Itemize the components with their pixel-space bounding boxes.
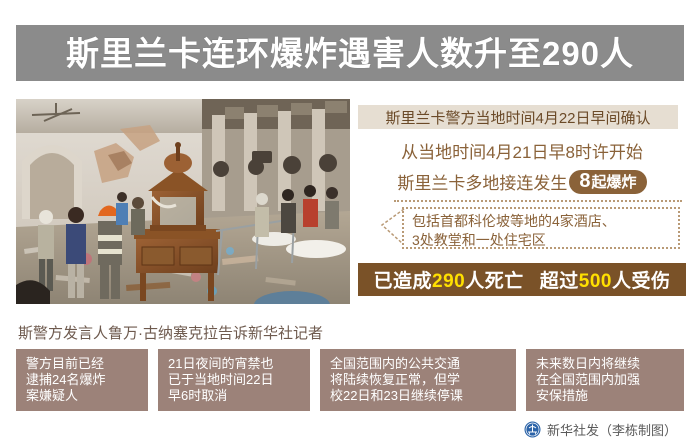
fact-box-security: 未来数日内将继续 在全国范围内加强 安保措施	[526, 349, 684, 411]
fact-line: 警方目前已经	[26, 356, 140, 372]
explosion-count-label: 斯里兰卡多地接连发生	[397, 169, 567, 194]
fact-line: 全国范围内的公共交通	[330, 356, 508, 372]
injured-count: 500	[579, 271, 612, 292]
fact-line: 已于当地时间22日	[168, 372, 302, 388]
fact-line: 案嫌疑人	[26, 388, 140, 404]
explosion-count-badge: 8 起爆炸	[569, 170, 646, 194]
fact-line: 21日夜间的宵禁也	[168, 356, 302, 372]
fact-line: 在全国范围内加强	[536, 372, 676, 388]
page-title-banner: 斯里兰卡连环爆炸遇害人数升至290人	[16, 25, 684, 81]
xinhua-logo-icon	[524, 421, 541, 438]
footer-credit: 新华社发（李栋制图）	[524, 420, 677, 439]
fact-line: 逮捕24名爆炸	[26, 372, 140, 388]
fact-box-transport: 全国范围内的公共交通 将陆续恢复正常，但学 校22日和23日继续停课	[320, 349, 516, 411]
deaths-prefix: 已造成	[374, 271, 433, 292]
news-photo	[16, 99, 350, 304]
explosion-count-row: 斯里兰卡多地接连发生 8 起爆炸	[358, 169, 686, 194]
infographic-root: 斯里兰卡连环爆炸遇害人数升至290人	[0, 0, 700, 445]
targets-callout: 包括首都科伦坡等地的4家酒店、 3处教堂和一处住宅区	[402, 207, 680, 249]
casualty-bar: 已造成290人死亡超过500人受伤	[358, 263, 686, 296]
page-title: 斯里兰卡连环爆炸遇害人数升至290人	[66, 37, 634, 70]
spokesperson-quote-line: 斯警方发言人鲁万·古纳塞克拉告诉新华社记者	[18, 322, 323, 343]
deaths-count: 290	[432, 271, 465, 292]
targets-callout-line1: 包括首都科伦坡等地的4家酒店、	[412, 212, 672, 231]
fact-line: 校22日和23日继续停课	[330, 388, 508, 404]
fact-box-row: 警方目前已经 逮捕24名爆炸 案嫌疑人 21日夜间的宵禁也 已于当地时间22日 …	[16, 349, 684, 411]
explosion-count-number: 8	[579, 171, 590, 191]
explosion-count-unit: 起爆炸	[592, 175, 637, 190]
deaths-suffix: 人死亡	[465, 271, 524, 292]
news-photo-image	[16, 99, 350, 304]
fact-line: 未来数日内将继续	[536, 356, 676, 372]
injured-suffix: 人受伤	[612, 271, 671, 292]
dotted-divider	[394, 200, 682, 202]
fact-line: 早6时取消	[168, 388, 302, 404]
fact-box-curfew: 21日夜间的宵禁也 已于当地时间22日 早6时取消	[158, 349, 310, 411]
fact-box-arrests: 警方目前已经 逮捕24名爆炸 案嫌疑人	[16, 349, 148, 411]
fact-line: 将陆续恢复正常，但学	[330, 372, 508, 388]
right-info-panel: 斯里兰卡警方当地时间4月22日早间确认 从当地时间4月21日早8时许开始 斯里兰…	[358, 99, 686, 304]
timeline-start-text: 从当地时间4月21日早8时许开始	[358, 138, 686, 163]
injured-prefix: 超过	[540, 271, 579, 292]
confirmation-subheader-text: 斯里兰卡警方当地时间4月22日早间确认	[385, 107, 650, 128]
targets-callout-line2: 3处教堂和一处住宅区	[412, 231, 672, 250]
footer-credit-text: 新华社发（李栋制图）	[547, 420, 677, 439]
casualty-text: 已造成290人死亡超过500人受伤	[374, 266, 671, 293]
confirmation-subheader: 斯里兰卡警方当地时间4月22日早间确认	[358, 105, 678, 129]
fact-line: 安保措施	[536, 388, 676, 404]
